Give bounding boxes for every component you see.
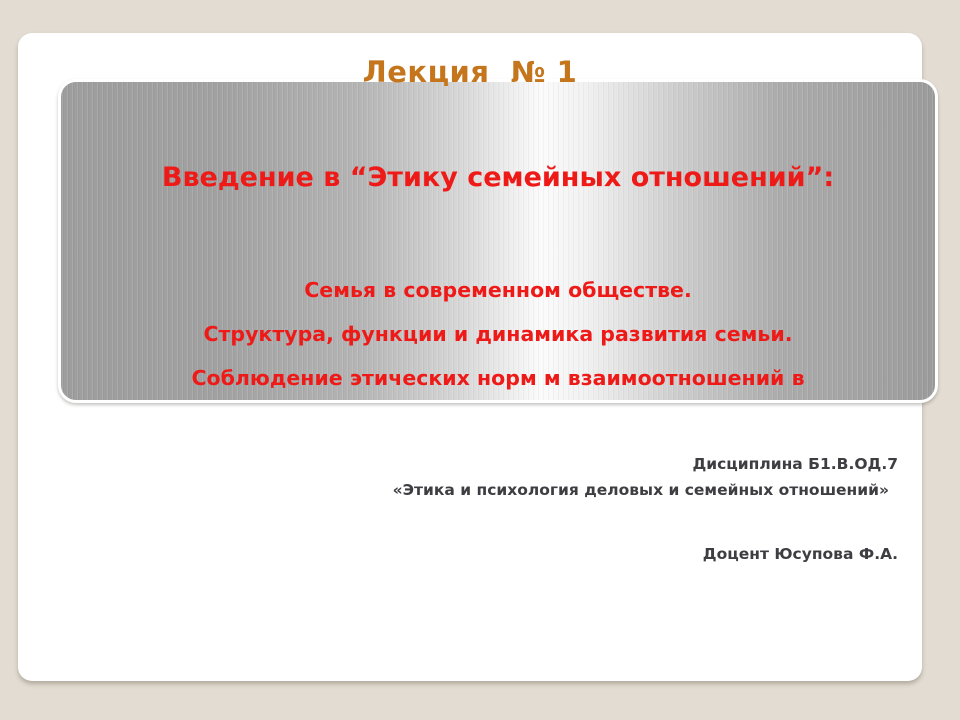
slide-content-panel: Введение в “Этику семейных отношений”: С… — [18, 33, 922, 681]
lecturer-name: Доцент Юсупова Ф.А. — [78, 545, 907, 563]
lecture-number-title: Лекция № 1 — [18, 55, 922, 89]
body-line-2: Структура, функции и динамика развития с… — [121, 312, 875, 356]
slide-body-text: Семья в современном обществе. Структура,… — [121, 268, 875, 403]
course-info-block: Дисциплина Б1.В.ОД.7 «Этика и психология… — [78, 451, 898, 503]
course-title: «Этика и психология деловых и семейных о… — [78, 477, 898, 503]
body-line-3: Соблюдение этических норм м взаимоотноше… — [121, 356, 875, 400]
presentation-slide: Введение в “Этику семейных отношений”: С… — [0, 0, 960, 720]
slide-heading: Введение в “Этику семейных отношений”: — [61, 162, 935, 193]
title-banner: Введение в “Этику семейных отношений”: С… — [58, 79, 938, 403]
body-line-4: семье — [121, 400, 875, 403]
body-line-1: Семья в современном обществе. — [121, 268, 875, 312]
discipline-code: Дисциплина Б1.В.ОД.7 — [78, 451, 898, 477]
